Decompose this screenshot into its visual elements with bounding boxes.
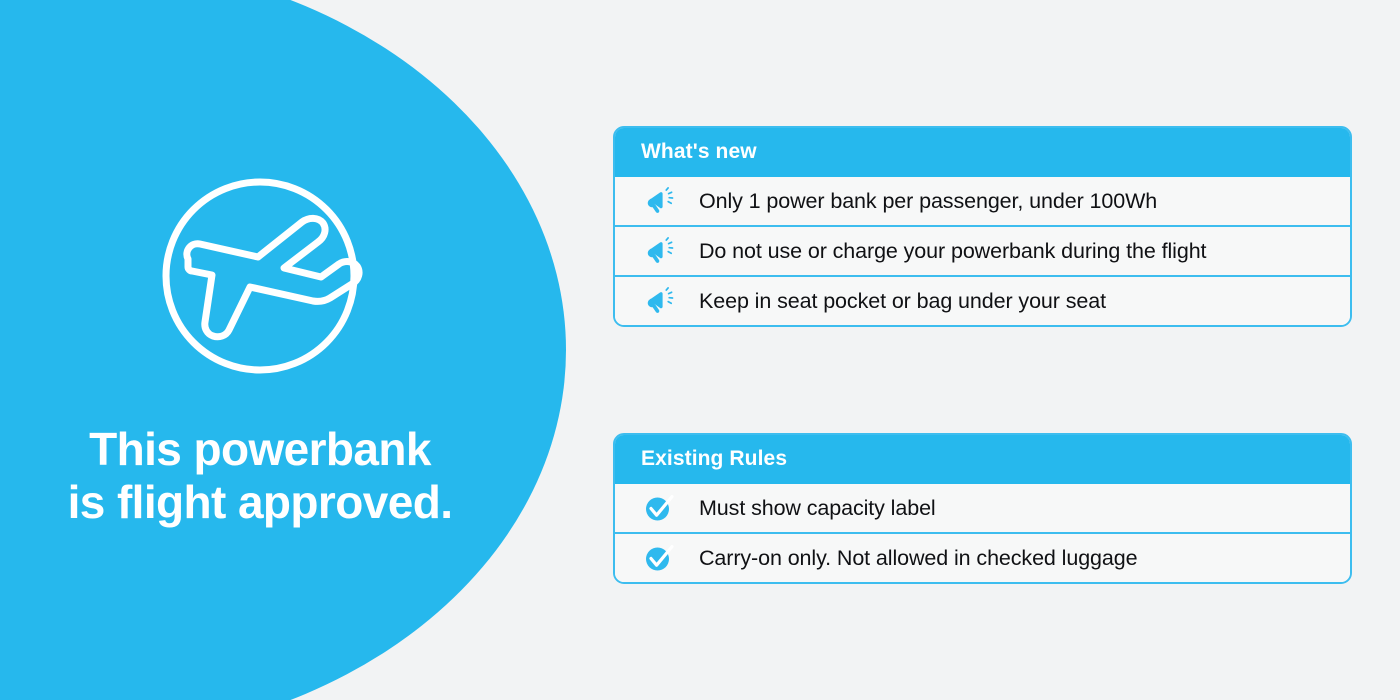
page-title: This powerbank is flight approved.	[68, 423, 453, 529]
megaphone-icon	[637, 187, 681, 215]
hero-heading-line-2: is flight approved.	[68, 476, 453, 529]
card-whats-new: What's new	[613, 126, 1352, 327]
list-item[interactable]: Keep in seat pocket or bag under your se…	[615, 275, 1350, 325]
card-whats-new-title: What's new	[615, 128, 1350, 177]
hero-content: This powerbank is flight approved.	[0, 0, 520, 700]
megaphone-icon	[637, 237, 681, 265]
check-circle-icon	[637, 543, 681, 573]
list-item-label: Keep in seat pocket or bag under your se…	[681, 289, 1106, 314]
list-item[interactable]: Must show capacity label	[615, 484, 1350, 532]
card-existing-rules-title: Existing Rules	[615, 435, 1350, 484]
card-existing-rules-rows: Must show capacity label Carry-on only. …	[615, 484, 1350, 582]
megaphone-icon	[637, 287, 681, 315]
card-existing-rules: Existing Rules Must show capacity label	[613, 433, 1352, 584]
list-item[interactable]: Only 1 power bank per passenger, under 1…	[615, 177, 1350, 225]
cards-area: What's new	[613, 0, 1353, 700]
list-item-label: Do not use or charge your powerbank duri…	[681, 239, 1206, 264]
list-item-label: Only 1 power bank per passenger, under 1…	[681, 189, 1157, 214]
list-item[interactable]: Do not use or charge your powerbank duri…	[615, 225, 1350, 275]
list-item-label: Carry-on only. Not allowed in checked lu…	[681, 546, 1138, 571]
hero-heading-line-1: This powerbank	[68, 423, 453, 476]
list-item[interactable]: Carry-on only. Not allowed in checked lu…	[615, 532, 1350, 582]
hero-panel: This powerbank is flight approved.	[0, 0, 566, 700]
card-whats-new-rows: Only 1 power bank per passenger, under 1…	[615, 177, 1350, 325]
check-circle-icon	[637, 493, 681, 523]
airplane-in-circle-icon	[155, 171, 365, 381]
list-item-label: Must show capacity label	[681, 496, 936, 521]
